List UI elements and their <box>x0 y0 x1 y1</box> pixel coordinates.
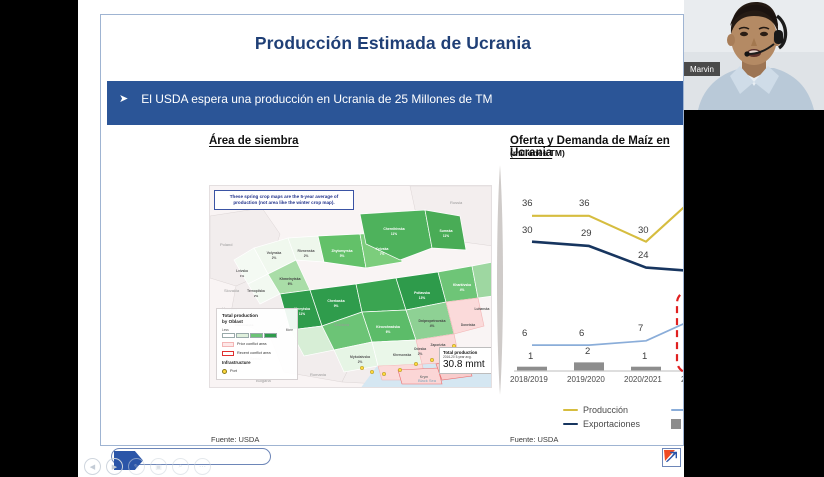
source-right: Fuente: USDA Informe 10 de Junio <box>510 435 576 446</box>
value-label-exportaciones-0: 30 <box>522 225 533 236</box>
slide-controls: ◀ ▶ ✎ ▣ ⌕ ⋯ <box>84 458 211 475</box>
legend-marker-produccion <box>563 409 578 412</box>
value-label-consumointerno-1: 6 <box>579 328 584 339</box>
svg-text:4%: 4% <box>460 288 465 292</box>
svg-text:7%: 7% <box>380 252 385 256</box>
chart-plot <box>510 163 684 391</box>
svg-text:13%: 13% <box>419 296 426 300</box>
x-tick-2020-2021: 2020/2021 <box>624 375 662 384</box>
svg-text:11%: 11% <box>299 312 305 316</box>
bullet-banner: ➤ El USDA espera una producción en Ucran… <box>107 81 684 117</box>
bar-2019-2020 <box>574 362 604 371</box>
svg-text:Cherkaska: Cherkaska <box>327 299 344 303</box>
svg-text:Zhytomyrska: Zhytomyrska <box>331 249 352 253</box>
svg-text:Poltavska: Poltavska <box>414 291 430 295</box>
svg-text:Lvivska: Lvivska <box>236 269 248 273</box>
recent-conflict-label: Recent conflict area <box>237 351 271 355</box>
right-section-subheading: (millones TM) <box>510 148 565 158</box>
svg-text:Slovakia: Slovakia <box>224 288 240 293</box>
svg-text:Kirovohradska: Kirovohradska <box>376 325 400 329</box>
legend-marker-inventario-final <box>671 419 681 429</box>
source-right-line1: Fuente: USDA <box>510 435 576 446</box>
svg-text:Mykolaivska: Mykolaivska <box>350 355 370 359</box>
line-series-exportaciones <box>532 242 684 324</box>
bar-label-2: 1 <box>642 351 647 362</box>
swatch-2 <box>236 333 249 338</box>
swatch-3 <box>250 333 263 338</box>
svg-text:Kharkivska: Kharkivska <box>453 283 471 287</box>
banner-underline <box>107 117 684 125</box>
legend-label-exportaciones: Exportaciones <box>583 419 640 429</box>
bullet-arrow-icon: ➤ <box>119 94 128 105</box>
value-label-produccin-0: 36 <box>522 198 533 209</box>
left-section-heading: Área de siembra <box>209 135 299 147</box>
svg-text:11%: 11% <box>443 234 449 238</box>
line-series-consumo-interno <box>532 315 684 345</box>
swatch-4 <box>264 333 277 338</box>
chart-legend: Producción Consumo Interno Exportaciones… <box>563 405 684 433</box>
svg-text:Rivnenska: Rivnenska <box>298 249 315 253</box>
brand-logo <box>662 448 681 467</box>
participant-name-label: Marvin <box>684 62 720 76</box>
legend-item-exportaciones: Exportaciones <box>563 419 671 429</box>
swatch-1 <box>222 333 235 338</box>
previous-slide-button[interactable]: ◀ <box>84 458 101 475</box>
svg-text:Luhanska: Luhanska <box>475 307 490 311</box>
svg-text:Romania: Romania <box>310 372 327 377</box>
pen-annotate-button[interactable]: ✎ <box>128 458 145 475</box>
x-tick-2019-2020: 2019/2020 <box>567 375 605 384</box>
svg-text:Ternopilska: Ternopilska <box>247 289 265 293</box>
bar-2020-2021 <box>631 367 661 371</box>
legend-item-inventario-final: Inventario Final <box>671 419 684 429</box>
supply-demand-chart: 36363042253029242311667139121712 2018/20… <box>510 163 684 391</box>
infrastructure-title: Infrastructure <box>222 360 293 365</box>
svg-text:Poland: Poland <box>220 242 232 247</box>
scale-low-label: Less <box>222 328 229 332</box>
svg-text:2%: 2% <box>254 294 259 298</box>
svg-text:Moldova: Moldova <box>334 322 350 327</box>
recent-conflict-swatch <box>222 351 234 356</box>
x-tick-2021-2022: 2021/2022 <box>681 375 684 384</box>
more-options-button[interactable]: ⋯ <box>194 458 211 475</box>
logo-arrow-icon <box>663 449 680 466</box>
svg-text:2%: 2% <box>272 256 277 260</box>
svg-text:2%: 2% <box>358 360 363 364</box>
map-legend-scale: Less More <box>222 328 293 332</box>
prior-conflict-label: Prior conflict area <box>237 342 267 346</box>
value-label-exportaciones-1: 29 <box>581 228 592 239</box>
svg-text:Sumska: Sumska <box>439 229 452 233</box>
value-label-produccin-1: 36 <box>579 198 590 209</box>
highlight-annotation-box <box>677 291 684 373</box>
zoom-button[interactable]: ⌕ <box>172 458 189 475</box>
legend-row-1: Producción Consumo Interno <box>563 405 684 415</box>
map-legend-title-2: by Oblast <box>222 319 293 325</box>
x-tick-2018-2019: 2018/2019 <box>510 375 548 384</box>
svg-text:Dnipropetrovska: Dnipropetrovska <box>419 319 446 323</box>
prior-conflict-swatch <box>222 342 234 347</box>
total-production-value: 30.8 mmt <box>443 359 492 370</box>
layout-button[interactable]: ▣ <box>150 458 167 475</box>
svg-text:Odeska: Odeska <box>414 347 426 351</box>
svg-text:Russia: Russia <box>450 200 463 205</box>
svg-text:Donetska: Donetska <box>461 323 476 327</box>
ukraine-crop-map: Poland Belarus Russia Slovakia Hungary R… <box>209 185 492 388</box>
map-note-callout: These spring crop maps are the 5-year av… <box>214 190 354 210</box>
svg-text:Khmelnytska: Khmelnytska <box>279 277 300 281</box>
bar-label-1: 2 <box>585 346 590 357</box>
svg-text:Chernihivska: Chernihivska <box>383 227 404 231</box>
svg-text:4%: 4% <box>430 324 435 328</box>
svg-text:5%: 5% <box>340 254 345 258</box>
port-icon <box>222 369 227 374</box>
value-label-produccin-2: 30 <box>638 225 649 236</box>
legend-row-2: Exportaciones Inventario Final <box>563 419 684 429</box>
svg-text:Volynska: Volynska <box>267 251 282 255</box>
source-left-line1: Fuente: USDA <box>211 435 278 446</box>
total-production-callout: Total production 2016-20 5-year avg. 30.… <box>439 347 492 374</box>
svg-text:1%: 1% <box>240 274 245 278</box>
svg-text:6%: 6% <box>288 282 293 286</box>
legend-port: Port <box>222 369 293 374</box>
next-slide-button[interactable]: ▶ <box>106 458 123 475</box>
section-divider <box>493 165 507 395</box>
legend-item-consumo-interno: Consumo Interno <box>671 405 684 415</box>
svg-text:2%: 2% <box>304 254 309 258</box>
value-label-exportaciones-2: 24 <box>638 250 649 261</box>
legend-marker-consumo-interno <box>671 409 684 412</box>
legend-item-produccion: Producción <box>563 405 671 415</box>
legend-label-produccion: Producción <box>583 405 628 415</box>
webcam-tile[interactable]: Marvin <box>684 0 824 110</box>
scale-high-label: More <box>286 328 293 332</box>
svg-text:Kyivska: Kyivska <box>376 247 389 251</box>
legend-recent-conflict: Recent conflict area <box>222 351 293 356</box>
bullet-text: El USDA espera una producción en Ucrania… <box>141 92 492 106</box>
svg-text:6%: 6% <box>386 330 391 334</box>
svg-text:9%: 9% <box>334 304 339 308</box>
slide-canvas[interactable]: Producción Estimada de Ucrania ➤ El USDA… <box>100 14 684 446</box>
page-title: Producción Estimada de Ucrania <box>101 33 684 54</box>
bar-label-0: 1 <box>528 351 533 362</box>
svg-text:11%: 11% <box>391 232 397 236</box>
value-label-consumointerno-2: 7 <box>638 323 643 334</box>
source-left: Fuente: USDA Informe 12 de Mayo <box>211 435 278 446</box>
svg-text:Krym: Krym <box>420 375 428 379</box>
screen-root: Producción Estimada de Ucrania ➤ El USDA… <box>0 0 824 477</box>
map-legend: Total production by Oblast Less More Pri… <box>216 308 298 380</box>
legend-prior-conflict: Prior conflict area <box>222 342 293 347</box>
svg-text:Khersonska: Khersonska <box>393 353 411 357</box>
bar-2018-2019 <box>517 367 547 371</box>
map-legend-swatches <box>222 333 293 338</box>
legend-marker-exportaciones <box>563 423 578 426</box>
svg-text:2%: 2% <box>418 352 423 356</box>
port-label: Port <box>230 369 237 373</box>
webcam-video-frame <box>684 0 824 110</box>
value-label-consumointerno-0: 6 <box>522 328 527 339</box>
